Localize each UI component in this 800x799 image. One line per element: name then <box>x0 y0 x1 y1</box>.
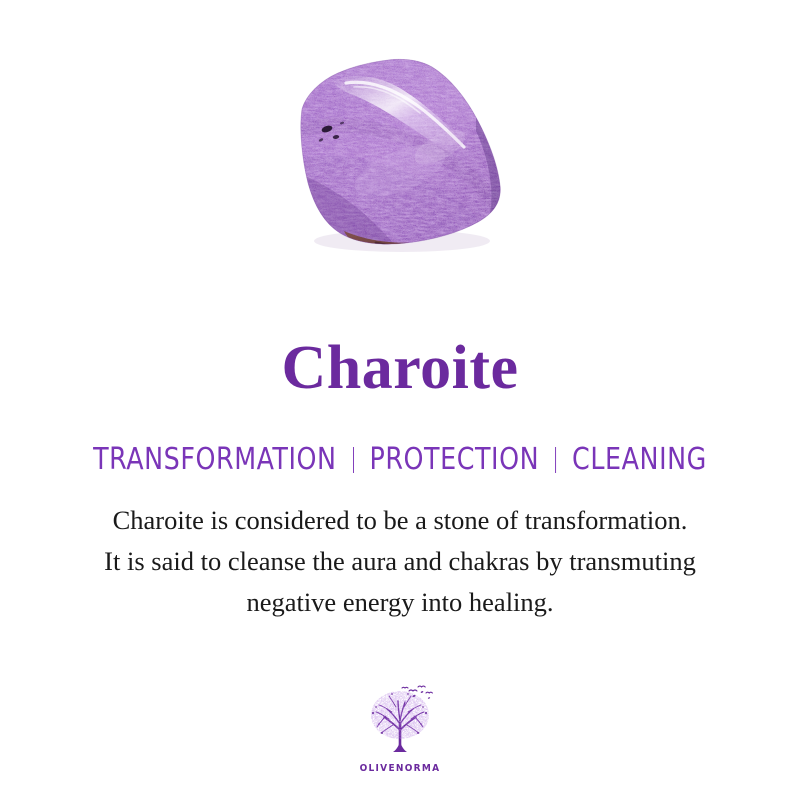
keyword-protection: PROTECTION <box>369 442 539 477</box>
keyword-transformation: TRANSFORMATION <box>93 442 336 477</box>
description-line: negative energy into healing. <box>0 582 800 623</box>
charoite-cabochon-illustration <box>280 43 520 263</box>
page-title: Charoite <box>0 333 800 403</box>
tree-of-life-icon <box>362 683 438 761</box>
brand-logo: OLIVENORMA <box>0 683 800 775</box>
description-text: Charoite is considered to be a stone of … <box>0 500 800 623</box>
keyword-list: TRANSFORMATIONPROTECTIONCLEANING <box>24 442 776 478</box>
description-line: It is said to cleanse the aura and chakr… <box>0 541 800 582</box>
charoite-info-card: Charoite TRANSFORMATIONPROTECTIONCLEANIN… <box>0 0 800 799</box>
description-line: Charoite is considered to be a stone of … <box>0 500 800 541</box>
keyword-cleaning: CLEANING <box>572 442 707 477</box>
keyword-separator-icon <box>555 447 556 473</box>
brand-wordmark: OLIVENORMA <box>360 763 441 775</box>
gemstone-image <box>0 28 800 278</box>
keyword-separator-icon <box>353 447 354 473</box>
